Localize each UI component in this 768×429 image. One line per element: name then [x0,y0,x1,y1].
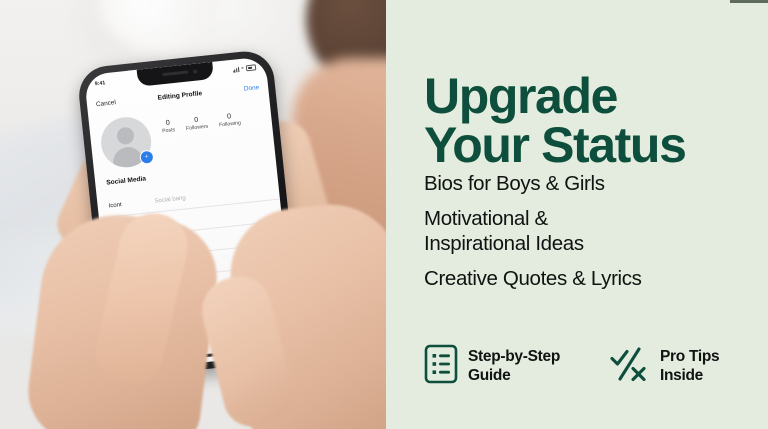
badge-label: Pro Tips Inside [660,348,719,384]
profile-header: + 0 Posts 0 Followers 0 Follo [89,102,275,171]
checklist-icon [424,344,458,389]
content-panel: Upgrade Your Status Bios for Boys & Girl… [386,0,768,429]
profile-stats: 0 Posts 0 Followers 0 Following [161,112,241,134]
cancel-button[interactable]: Cancel [96,99,117,108]
badge-pro-tips-inside: Pro Tips Inside [608,344,719,389]
stat-label: Followers [186,124,209,133]
check-x-icon [608,344,650,389]
profile-display-name: Social Media [106,175,146,186]
feature-list: Bios for Boys & Girls Motivational & Ins… [424,172,744,303]
field-value: Social bang [154,195,186,204]
badge-row: Step-by-Step Guide Pro Tips Inside [424,344,719,389]
done-button[interactable]: Done [244,84,260,93]
badge-label: Step-by-Step Guide [468,348,560,384]
battery-icon [246,64,257,71]
wifi-icon: ◓ [241,66,245,71]
status-time: 9:41 [95,80,106,87]
status-icons: ◓ [232,64,256,73]
page-title: Upgrade Your Status [424,72,685,171]
poster-root: 9:41 ◓ Cancel Editing Profile Done + [0,0,768,429]
photo-panel: 9:41 ◓ Cancel Editing Profile Done + [0,0,386,429]
feature-item-motivational: Motivational & Inspirational Ideas [424,207,744,256]
feature-item-bios: Bios for Boys & Girls [424,172,744,196]
top-rule-divider [730,0,768,3]
badge-step-by-step-guide: Step-by-Step Guide [424,344,560,389]
cellular-signal-icon [232,67,239,73]
screen-title: Editing Profile [157,90,202,102]
stat-followers[interactable]: 0 Followers [185,116,209,133]
stat-label: Posts [162,127,176,135]
avatar-wrapper[interactable]: + [99,115,154,170]
stat-posts[interactable]: 0 Posts [161,119,175,135]
stat-label: Following [219,120,241,128]
feature-item-quotes: Creative Quotes & Lyrics [424,267,744,291]
stat-following[interactable]: 0 Following [218,112,241,128]
camera-badge-icon[interactable]: + [139,150,154,165]
field-label: Icont [108,198,154,209]
